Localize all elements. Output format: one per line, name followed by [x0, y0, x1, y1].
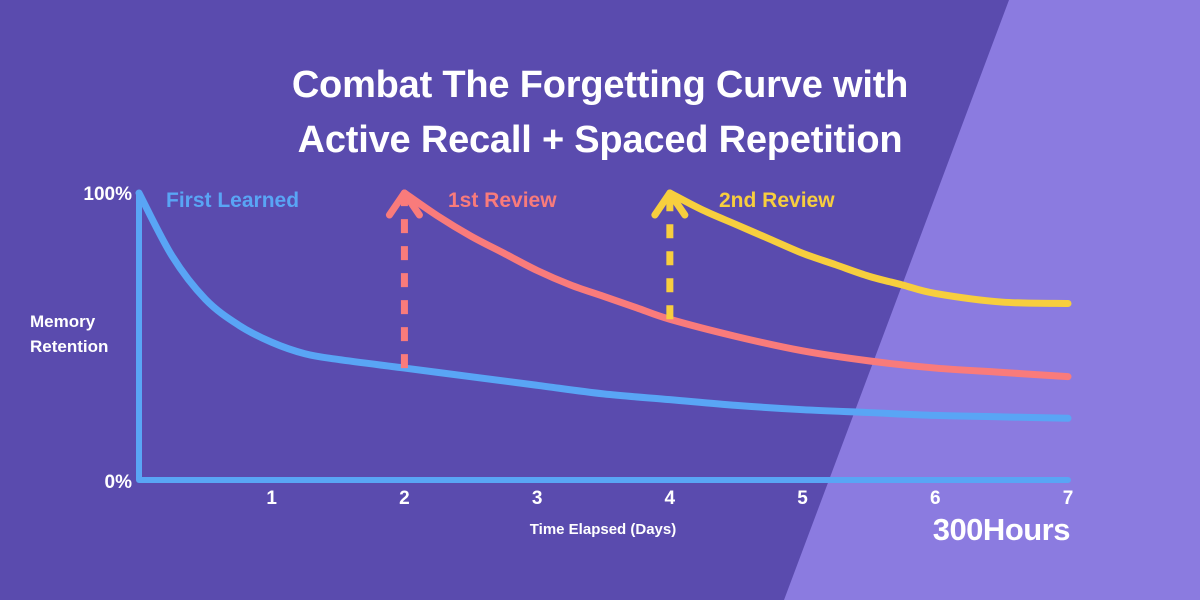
- y-axis-min-label: 0%: [105, 472, 132, 494]
- y-axis-title: Memory Retention: [30, 310, 108, 359]
- y-axis-title-line-2: Retention: [30, 335, 108, 360]
- arrow-first-review: [389, 193, 419, 368]
- infographic-canvas: Combat The Forgetting Curve with Active …: [0, 0, 1200, 600]
- x-axis-tick-4: 4: [665, 488, 676, 510]
- legend-label-first-learned: First Learned: [166, 189, 299, 213]
- page-title: Combat The Forgetting Curve with Active …: [0, 58, 1200, 168]
- curve-first-learned: [139, 193, 1068, 418]
- x-axis-tick-7: 7: [1063, 488, 1074, 510]
- x-axis-tick-6: 6: [930, 488, 941, 510]
- title-line-1: Combat The Forgetting Curve with: [0, 58, 1200, 113]
- x-axis-title: Time Elapsed (Days): [530, 521, 676, 538]
- title-line-2: Active Recall + Spaced Repetition: [0, 113, 1200, 168]
- chart-axes: [139, 193, 1068, 480]
- x-axis-tick-2: 2: [399, 488, 410, 510]
- review-arrows: [389, 193, 684, 368]
- legend-label-second-review: 2nd Review: [719, 189, 835, 213]
- curve-first-review: [404, 193, 1068, 377]
- chart-series: [139, 193, 1068, 418]
- y-axis-max-label: 100%: [83, 184, 132, 206]
- arrow-second-review: [655, 193, 685, 319]
- brand-logo: 300Hours: [933, 512, 1070, 548]
- x-axis-tick-1: 1: [266, 488, 277, 510]
- y-axis-title-line-1: Memory: [30, 310, 108, 335]
- x-axis-tick-3: 3: [532, 488, 543, 510]
- legend-label-first-review: 1st Review: [448, 189, 557, 213]
- x-axis-tick-5: 5: [797, 488, 808, 510]
- axis-line: [139, 193, 1068, 480]
